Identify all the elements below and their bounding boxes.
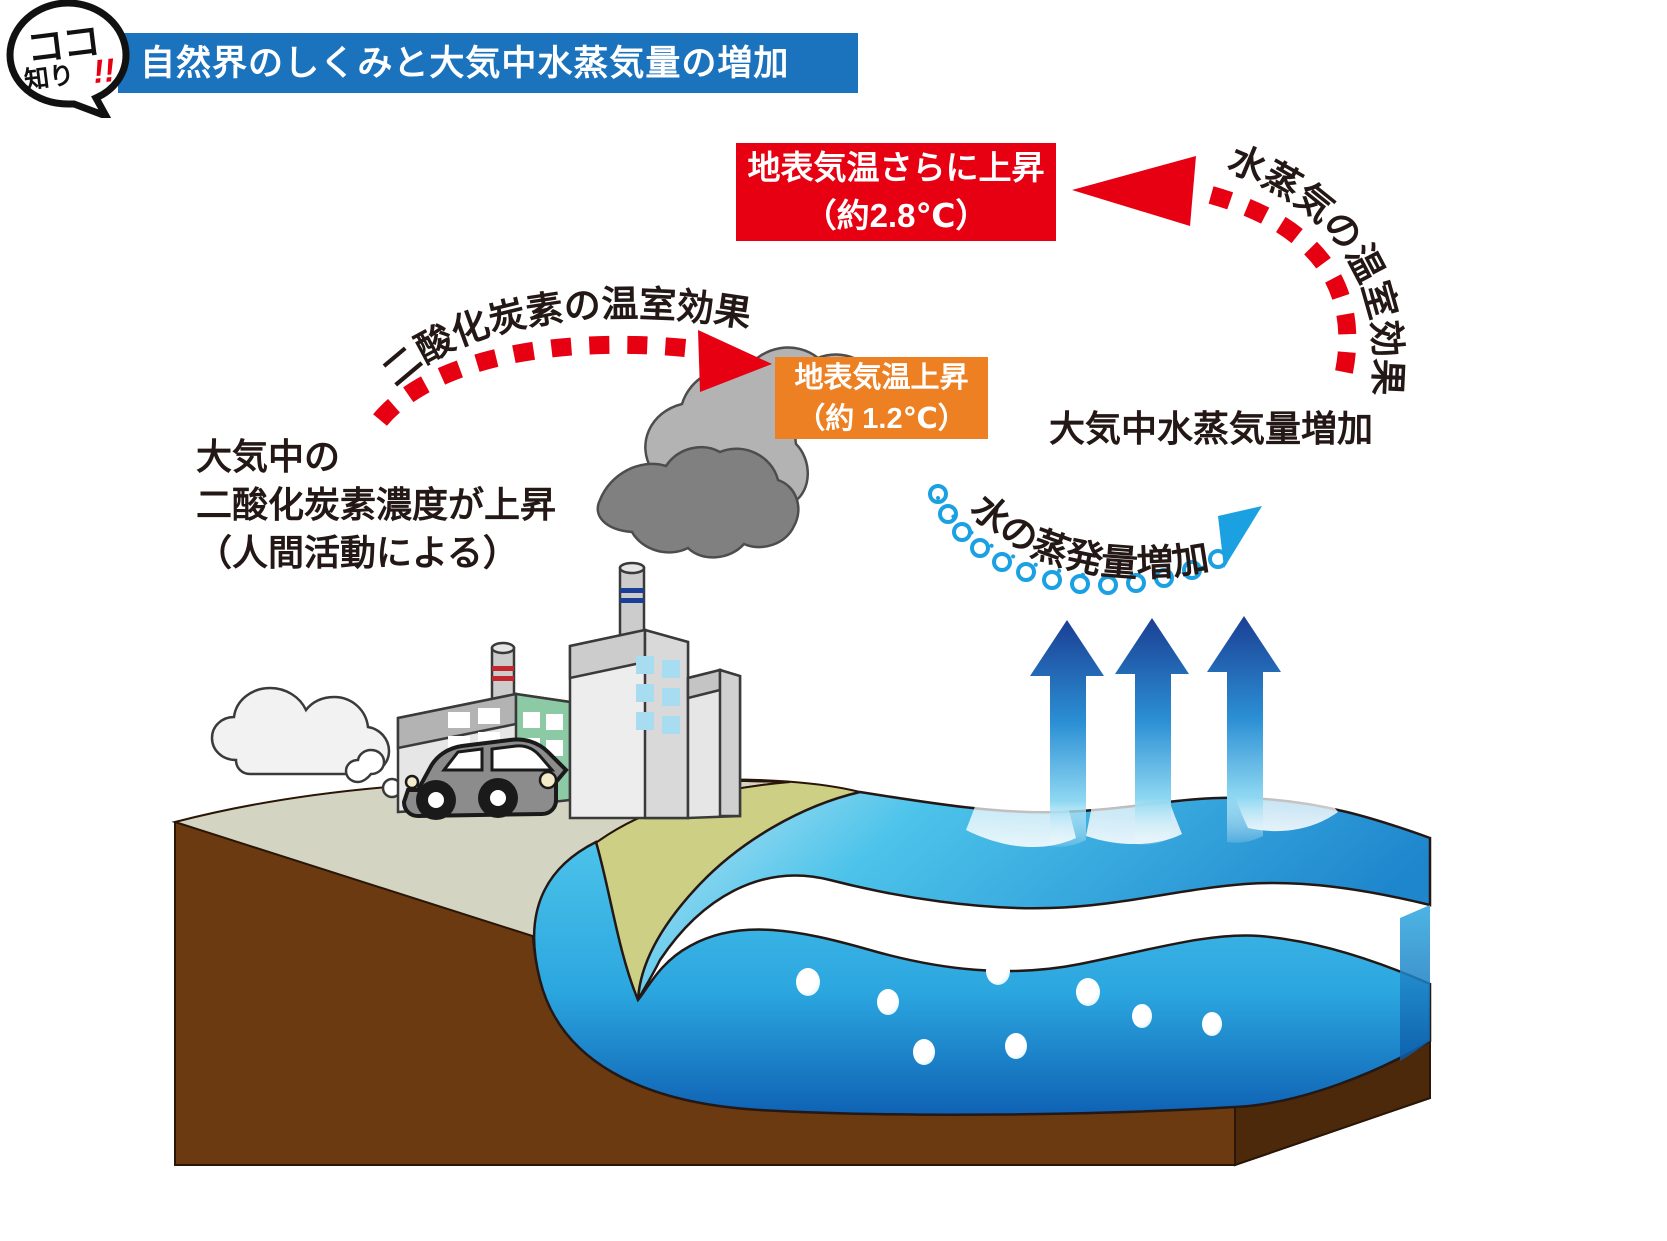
badge-exclamation: !! [82, 50, 126, 92]
co2-source-text: 大気中の 二酸化炭素濃度が上昇 （人間活動による） [196, 433, 556, 577]
page-title: 自然界のしくみと大気中水蒸気量の増加 [140, 40, 880, 88]
temperature-rise-box: 地表気温上昇 （約 1.2℃） [775, 357, 988, 439]
co2-source-line1: 大気中の [196, 433, 556, 481]
co2-source-line2: 二酸化炭素濃度が上昇 [196, 481, 556, 529]
bubble [1132, 1004, 1152, 1028]
bubble [1005, 1033, 1027, 1059]
orange-box-line2: （約 1.2℃） [775, 399, 988, 439]
red-box-line1: 地表気温さらに上昇 [736, 143, 1056, 193]
vapor-increase-label: 大気中水蒸気量増加 [1049, 400, 1373, 452]
orange-box-line1: 地表気温上昇 [775, 357, 988, 399]
bubble [913, 1039, 935, 1065]
bubble [796, 968, 820, 996]
factory-block-right [688, 670, 740, 818]
infographic-canvas: 二酸化炭素の温室効果 水蒸気の温室効果 水の蒸発量増加 自然界のしくみと大気中水… [0, 0, 1667, 1241]
red-box-line2: （約2.8℃） [736, 193, 1056, 239]
bubble [877, 989, 899, 1015]
evaporation-arrows [1030, 616, 1281, 847]
bubble [1202, 1012, 1222, 1036]
koko-shiri-badge: ココ 知り !! [2, 0, 134, 118]
bubble [1076, 978, 1100, 1006]
factory-tower [570, 630, 688, 818]
co2-source-line3: （人間活動による） [196, 529, 556, 577]
temperature-rise-high-box: 地表気温さらに上昇 （約2.8℃） [736, 143, 1056, 241]
bubble [986, 957, 1010, 985]
